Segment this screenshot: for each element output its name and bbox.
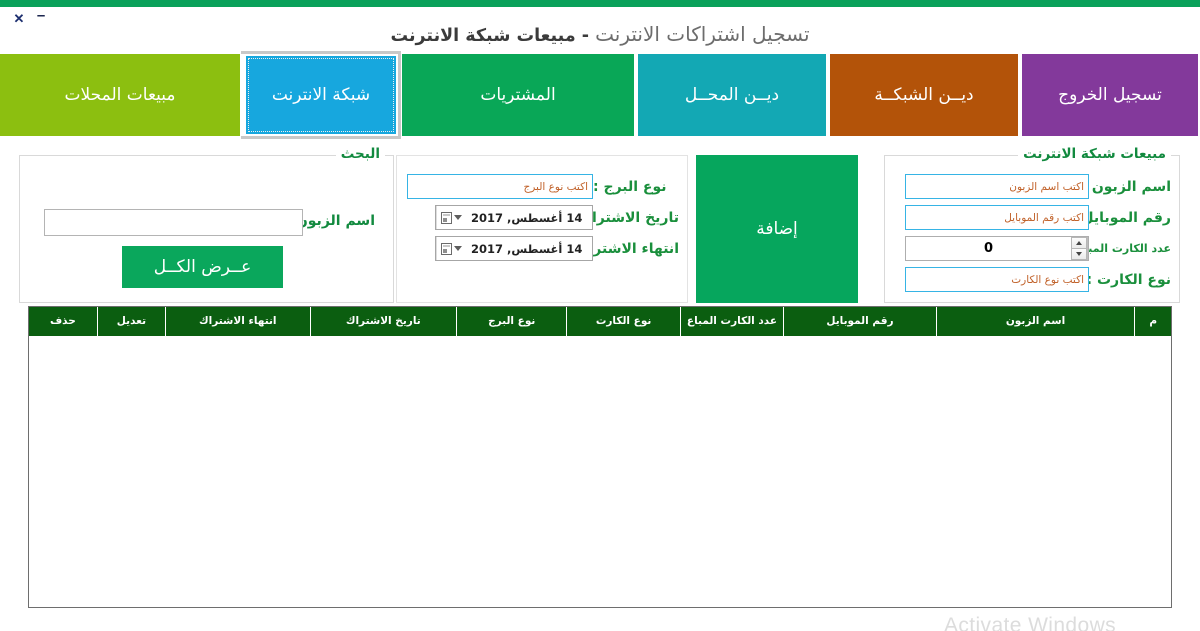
nav-tab-1[interactable]: شبكة الانترنت xyxy=(244,54,398,136)
column-header-2[interactable]: رقم الموبايل xyxy=(784,307,937,336)
subscription-end-date-picker[interactable]: 14 أغسطس, 2017 xyxy=(435,236,593,261)
records-grid[interactable]: ماسم الزبونرقم الموبايلعدد الكارت المباع… xyxy=(28,306,1172,608)
tower-type-label: نوع البرج : xyxy=(593,179,679,195)
column-header-4[interactable]: نوع الكارت xyxy=(567,307,680,336)
stepper-up-icon[interactable] xyxy=(1071,237,1087,248)
column-header-0[interactable]: م xyxy=(1135,307,1171,336)
records-table: ماسم الزبونرقم الموبايلعدد الكارت المباع… xyxy=(29,307,1171,336)
cards-sold-stepper[interactable]: 0 xyxy=(905,236,1089,261)
nav-tab-2[interactable]: المشتريات xyxy=(402,54,634,136)
search-customer-name-input[interactable] xyxy=(44,209,303,236)
subscription-date-label: تاريخ الاشتراك : xyxy=(593,210,679,226)
calendar-icon-end[interactable] xyxy=(436,237,466,260)
subscription-date-picker[interactable]: 14 أغسطس, 2017 xyxy=(435,205,593,230)
column-header-3[interactable]: عدد الكارت المباع xyxy=(680,307,783,336)
column-header-8[interactable]: تعديل xyxy=(97,307,165,336)
nav-tab-4[interactable]: ديــن الشبكــة xyxy=(830,54,1018,136)
grid-empty-body xyxy=(29,336,1171,607)
show-all-button[interactable]: عــرض الكــل xyxy=(122,246,283,288)
internet-sales-panel-legend: مبيعات شبكة الانترنت xyxy=(1018,146,1171,162)
nav-tab-0[interactable]: مبيعات المحلات xyxy=(0,54,240,136)
search-panel-legend: البحث xyxy=(336,146,385,162)
page-title-separator: - xyxy=(576,26,595,46)
nav-tab-label: ديــن الشبكــة xyxy=(874,85,973,105)
subscription-end-label: انتهاء الاشتراك xyxy=(593,241,679,257)
column-header-9[interactable]: حذف xyxy=(29,307,97,336)
form-area: مبيعات شبكة الانترنت اسم الزبون : رقم ال… xyxy=(0,141,1200,311)
search-panel: البحث اسم الزبون: عــرض الكــل xyxy=(19,155,394,303)
internet-sales-panel: مبيعات شبكة الانترنت اسم الزبون : رقم ال… xyxy=(884,155,1180,303)
card-type-input[interactable] xyxy=(905,267,1089,292)
subscription-details-panel: نوع البرج : تاريخ الاشتراك : 14 أغسطس, 2… xyxy=(396,155,688,303)
nav-tab-3[interactable]: ديــن المحــل xyxy=(638,54,826,136)
watermark-text: Activate Windows xyxy=(944,614,1116,631)
subscription-end-date-value: 14 أغسطس, 2017 xyxy=(466,242,592,256)
nav-tab-label: تسجيل الخروج xyxy=(1058,85,1162,105)
nav-tab-separator xyxy=(398,54,402,136)
main-navigation: مبيعات المحلاتشبكة الانترنتالمشترياتديــ… xyxy=(0,54,1200,136)
stepper-down-icon[interactable] xyxy=(1071,248,1087,260)
page-title: تسجيل اشتراكات الانترنت - مبيعات شبكة ال… xyxy=(0,22,1200,46)
page-title-light: تسجيل اشتراكات الانترنت xyxy=(595,22,809,46)
nav-tab-label: شبكة الانترنت xyxy=(272,85,370,105)
mobile-number-input[interactable] xyxy=(905,205,1089,230)
activate-windows-watermark: Activate Windows xyxy=(0,614,1200,631)
table-header-row: ماسم الزبونرقم الموبايلعدد الكارت المباع… xyxy=(29,307,1171,336)
card-type-label: نوع الكارت : xyxy=(1089,272,1171,288)
nav-tab-separator xyxy=(240,54,244,136)
tower-type-input[interactable] xyxy=(407,174,593,199)
subscription-date-value: 14 أغسطس, 2017 xyxy=(466,211,592,225)
customer-name-label: اسم الزبون : xyxy=(1089,179,1171,195)
nav-tab-separator xyxy=(1018,54,1022,136)
nav-tab-5[interactable]: تسجيل الخروج xyxy=(1022,54,1198,136)
calendar-icon[interactable] xyxy=(436,206,466,229)
nav-tab-label: المشتريات xyxy=(480,85,555,105)
nav-tab-label: ديــن المحــل xyxy=(685,85,779,105)
add-button[interactable]: إضافة xyxy=(696,155,858,303)
column-header-6[interactable]: تاريخ الاشتراك xyxy=(310,307,457,336)
cards-sold-stepper-buttons xyxy=(1071,237,1088,260)
mobile-number-label: رقم الموبايل : xyxy=(1089,210,1171,226)
cards-sold-label: عدد الكارت المباع : xyxy=(1089,242,1171,255)
top-accent-bar xyxy=(0,0,1200,7)
customer-name-input[interactable] xyxy=(905,174,1089,199)
page-title-bold: مبيعات شبكة الانترنت xyxy=(390,26,575,46)
column-header-1[interactable]: اسم الزبون xyxy=(936,307,1135,336)
nav-tab-separator xyxy=(826,54,830,136)
column-header-5[interactable]: نوع البرج xyxy=(457,307,567,336)
cards-sold-value: 0 xyxy=(906,237,1071,260)
nav-tab-label: مبيعات المحلات xyxy=(65,85,176,105)
column-header-7[interactable]: انتهاء الاشتراك xyxy=(166,307,311,336)
nav-tab-separator xyxy=(634,54,638,136)
application-window: ✕ – تسجيل اشتراكات الانترنت - مبيعات شبك… xyxy=(0,0,1200,631)
